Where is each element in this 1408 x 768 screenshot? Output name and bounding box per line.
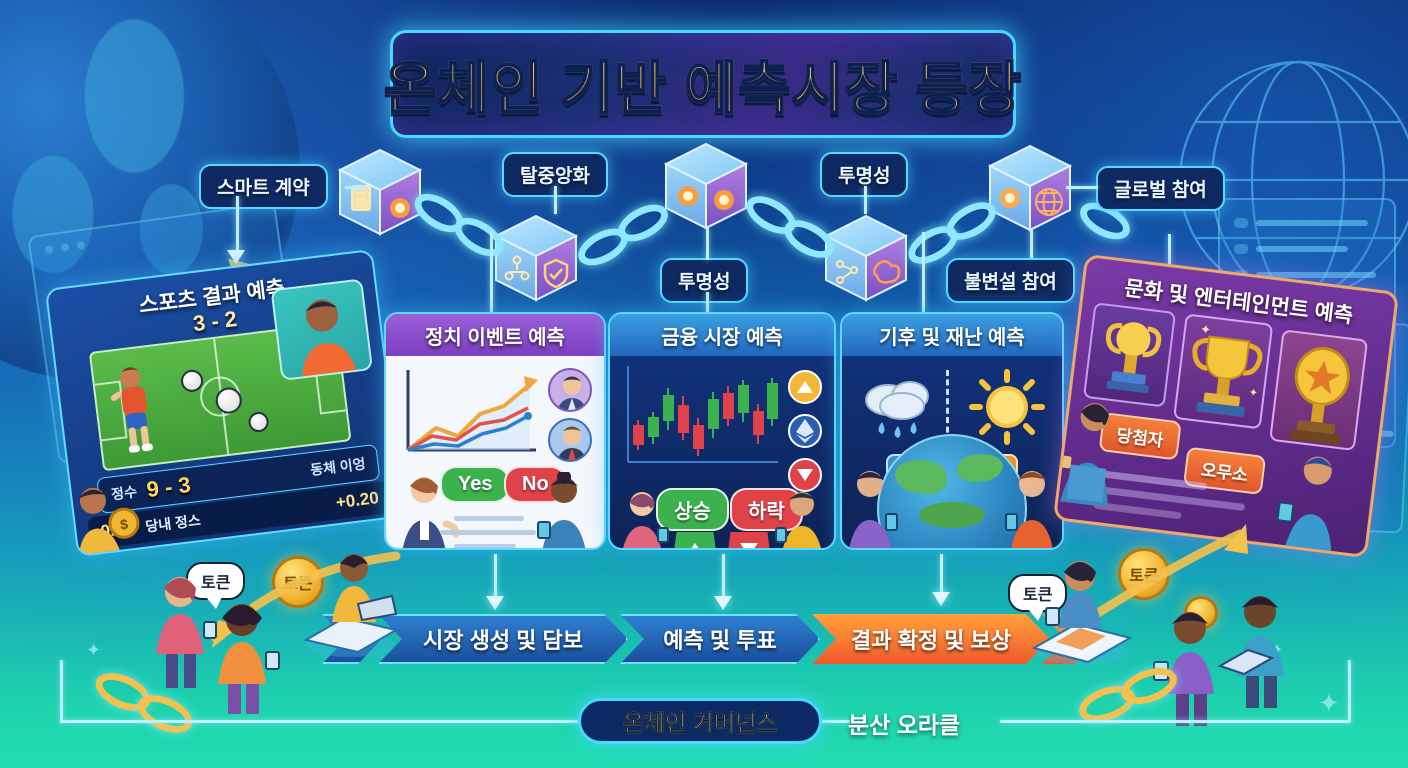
footer-governance-label: 온체인 거버넌스: [623, 704, 778, 738]
connector-line: [236, 196, 239, 252]
sports-value-right: +0.20: [335, 488, 380, 513]
trophy-tile-1: [1083, 302, 1176, 407]
trophy-tile-3: [1269, 329, 1368, 451]
person-left-laptop: [300, 548, 400, 658]
label-immutable-participation: 불변설 참여: [946, 258, 1075, 303]
blockchain-cube-smart-contract: [336, 146, 424, 238]
sparkle-icon: ✦: [86, 640, 101, 661]
connector-line: [1066, 186, 1098, 189]
card-politics-prediction[interactable]: 정치 이벤트 예측: [384, 312, 606, 550]
arrow-down-icon: [714, 596, 732, 610]
connector-line: [60, 660, 63, 722]
label-transparency-mid: 투명성: [660, 258, 748, 303]
triangle-down-icon: [726, 532, 772, 550]
infographic-canvas: ✦ ✦ ✦ 온체인 기반 예측시장 등장: [0, 0, 1408, 768]
ethereum-icon: [788, 414, 822, 448]
connector-line: [60, 720, 580, 723]
card-finance-prediction[interactable]: 금융 시장 예측: [608, 312, 836, 550]
trophy-tile-2: ✦ ✦: [1173, 313, 1273, 429]
blockchain-cube-global: [986, 142, 1074, 234]
svg-text:✦: ✦: [1248, 387, 1259, 400]
arrow-down-icon: [227, 250, 245, 264]
avatar-spectator: [271, 278, 374, 381]
triangle-up-icon: [672, 532, 718, 550]
connector-line: [706, 228, 709, 260]
card-finance-title: 금융 시장 예측: [610, 314, 834, 356]
card-climate-title: 기후 및 재난 예측: [842, 314, 1062, 356]
footer-governance-pill[interactable]: 온체인 거버넌스: [578, 698, 822, 744]
sports-label-team: 동체 이엉: [309, 453, 366, 480]
connector-line: [494, 554, 497, 600]
person-left-2: [206, 596, 286, 716]
down-indicator-icon: [788, 458, 822, 492]
connector-line: [554, 186, 557, 214]
person-right-laptop: [1214, 588, 1310, 710]
flow-step-settlement-reward[interactable]: 결과 확정 및 보상: [812, 614, 1050, 664]
page-title-banner: 온체인 기반 예측시장 등장: [390, 30, 1016, 138]
page-title: 온체인 기반 예측시장 등장: [384, 43, 1022, 125]
connector-line: [345, 186, 365, 189]
card-politics-body: Yes No: [386, 356, 604, 548]
connector-line: [820, 720, 850, 723]
avatar-politician-1: [548, 368, 592, 412]
flow-step-predict-vote[interactable]: 예측 및 투표: [620, 614, 820, 664]
card-sports-prediction[interactable]: 스포츠 결과 예측 3 - 2: [45, 249, 405, 557]
connector-line: [722, 554, 725, 600]
connector-line: [490, 232, 493, 312]
sparkle-icon: ✦: [1318, 688, 1340, 719]
connector-line: [1000, 720, 1350, 723]
connector-line: [864, 186, 867, 214]
sports-label-odds: 당내 정스: [144, 510, 201, 537]
arrow-down-icon: [932, 592, 950, 606]
avatar-politician-2: [548, 418, 592, 462]
sports-score-main: 9 - 3: [145, 472, 192, 503]
person-right-phone-podium: [1028, 556, 1134, 668]
card-climate-prediction[interactable]: 기후 및 재난 예측: [840, 312, 1064, 550]
connector-line: [1348, 660, 1351, 722]
connector-line: [940, 554, 943, 596]
card-finance-body: 상승 하락: [610, 356, 834, 548]
arrow-down-icon: [486, 596, 504, 610]
connector-line: [1030, 230, 1033, 258]
divider-dashed: [946, 370, 949, 442]
footer-oracle-label: 분산 오라클: [848, 706, 960, 740]
label-smart-contract: 스마트 계약: [199, 164, 328, 209]
label-global-participation: 글로벌 참여: [1096, 166, 1225, 211]
card-politics-title: 정치 이벤트 예측: [386, 314, 604, 356]
svg-text:✦: ✦: [1199, 321, 1212, 337]
card-entertainment-prediction[interactable]: 문화 및 엔터테인먼트 예측 ✦ ✦: [1053, 254, 1399, 559]
connector-line: [922, 232, 925, 312]
blockchain-cube-center: [662, 140, 750, 232]
up-indicator-icon: [788, 370, 822, 404]
card-climate-body: [842, 356, 1062, 548]
blockchain-cube-transparency: [822, 212, 910, 304]
blockchain-cube-decentralization: [492, 212, 580, 304]
